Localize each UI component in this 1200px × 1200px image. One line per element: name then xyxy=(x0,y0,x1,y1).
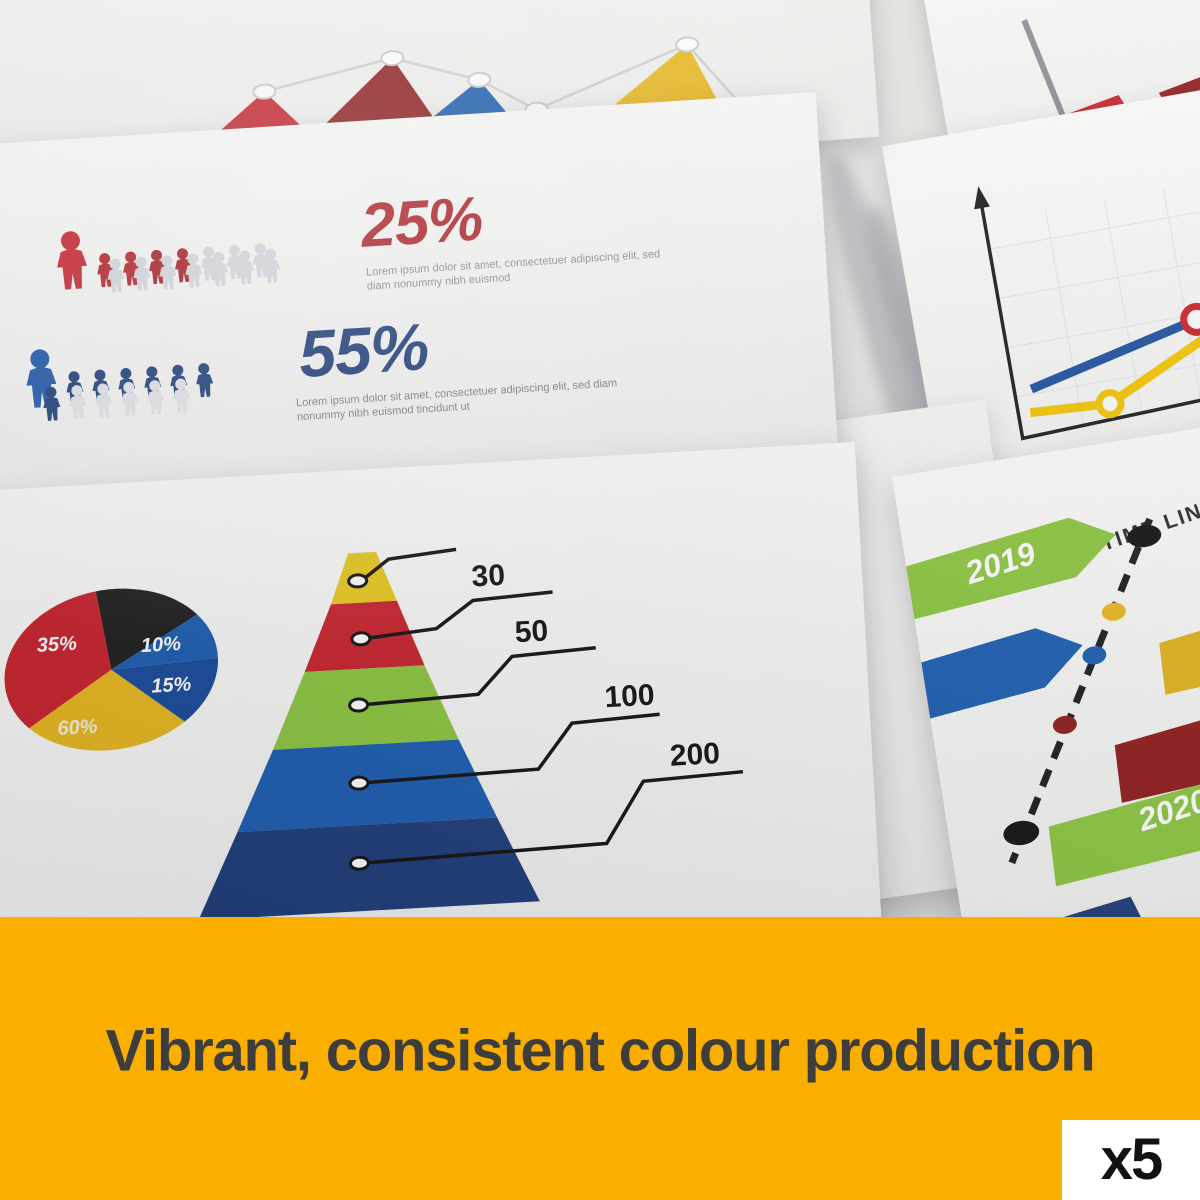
stat-55: 55% xyxy=(297,317,430,384)
person-icon xyxy=(260,248,282,283)
pie-label-60: 60% xyxy=(57,716,98,740)
person-icon xyxy=(53,230,91,290)
quantity-badge: x5 xyxy=(1062,1120,1200,1200)
timeline-node-black xyxy=(1002,818,1041,847)
timeline-bar-yellow xyxy=(1153,587,1200,694)
pie-label-35: 35% xyxy=(36,633,77,657)
person-icon xyxy=(105,258,127,293)
axis-arrow-icon xyxy=(970,185,990,209)
stat-25-value: 25% xyxy=(359,191,483,254)
chart-axes xyxy=(981,142,1200,438)
banner-headline: Vibrant, consistent colour production xyxy=(106,1017,1095,1084)
pyramid-chart: 30 50 100 200 xyxy=(170,523,771,917)
pyramid-label-30: 30 xyxy=(471,559,506,594)
person-icon xyxy=(208,251,230,286)
person-icon xyxy=(41,386,63,421)
person-icon xyxy=(157,255,179,290)
person-icon xyxy=(118,381,140,416)
person-icon xyxy=(67,385,89,420)
timeline-node-yellow xyxy=(1101,601,1128,623)
marketing-banner: Vibrant, consistent colour production x5 xyxy=(0,917,1200,1200)
data-point-marker xyxy=(1097,391,1122,416)
timeline-node-red xyxy=(1052,714,1079,736)
stat-25: 25% xyxy=(359,191,483,254)
timeline-node-black xyxy=(1126,523,1163,550)
pyramid-label-50: 50 xyxy=(514,614,549,649)
timeline-bar-darkred xyxy=(1108,674,1200,803)
chart-gridlines xyxy=(986,166,1200,436)
paper-sheet-pie-pyramid: 35% 10% 15% 60% 0% xyxy=(0,442,884,917)
product-photo: 125 TIME LINE xyxy=(0,0,1200,917)
pyramid-label-100: 100 xyxy=(604,679,656,715)
person-icon xyxy=(131,256,153,291)
stat-55-value: 55% xyxy=(297,317,430,384)
timeline-node-blue xyxy=(1081,645,1108,667)
quantity-badge-label: x5 xyxy=(1101,1131,1162,1189)
person-icon xyxy=(234,250,256,285)
person-icon xyxy=(183,253,205,288)
screenshot-root: 125 TIME LINE xyxy=(0,0,1200,1200)
data-point-marker xyxy=(1182,304,1200,334)
person-icon xyxy=(170,378,192,413)
person-icon xyxy=(93,383,115,418)
timeline-bar-lower xyxy=(1002,893,1163,917)
person-icon xyxy=(193,363,215,398)
pyramid-label-200: 200 xyxy=(669,737,721,773)
person-icon xyxy=(144,380,166,415)
